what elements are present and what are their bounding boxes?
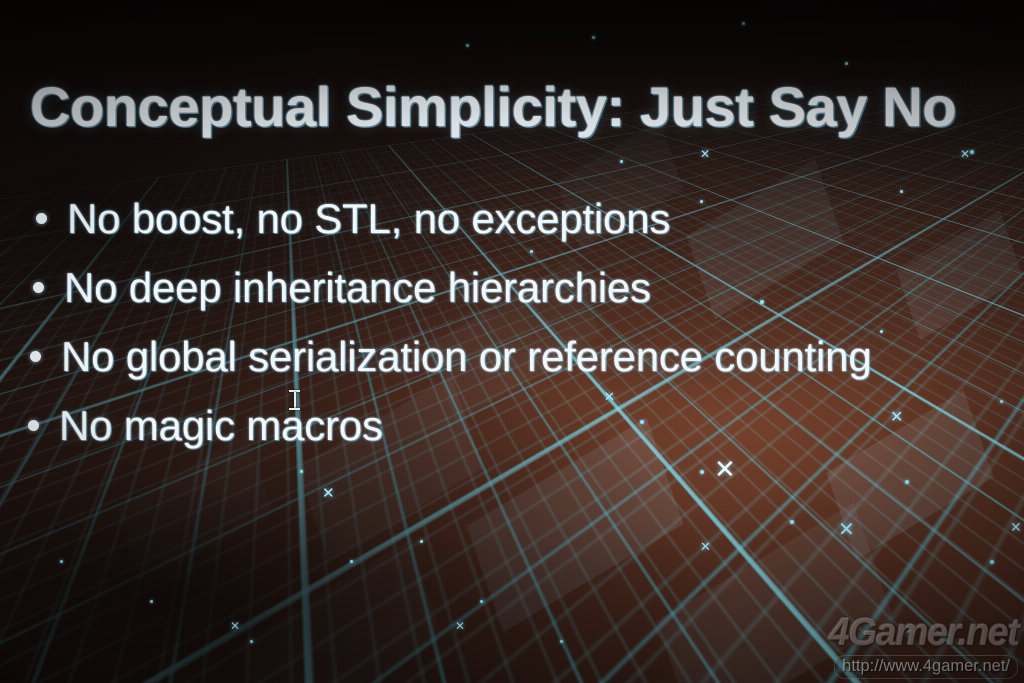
bullet-label: No global serialization or reference cou… — [61, 333, 871, 381]
slide-photo: ✕ ✕ ✕ ✕ ✕ ✕ ✕ ✕ ✕ ✕ ✕ ✕ Conceptual Simpl… — [0, 0, 1024, 683]
bullet-dot-icon — [33, 282, 44, 293]
bullet-dot-icon — [30, 351, 41, 362]
watermark: 4Gamer.net http://www.4gamer.net/ — [821, 613, 1018, 679]
bullet-label: No boost, no STL, no exceptions — [67, 195, 670, 243]
bullet-label: No deep inheritance hierarchies — [64, 264, 651, 312]
list-item: No deep inheritance hierarchies — [25, 253, 1020, 322]
bullet-label: No magic macros — [59, 402, 383, 450]
bullet-dot-icon — [28, 420, 39, 431]
list-item: No boost, no STL, no exceptions — [28, 184, 1020, 253]
slide-title: Conceptual Simplicity: Just Say No — [30, 74, 1024, 139]
slide-bullet-list: No boost, no STL, no exceptions No deep … — [20, 184, 1020, 460]
list-item: No global serialization or reference cou… — [22, 322, 1020, 391]
watermark-url: http://www.4gamer.net/ — [834, 655, 1018, 679]
list-item: No magic macros — [20, 391, 1020, 460]
watermark-logo: 4Gamer.net — [828, 613, 1018, 652]
bullet-dot-icon — [36, 213, 47, 224]
